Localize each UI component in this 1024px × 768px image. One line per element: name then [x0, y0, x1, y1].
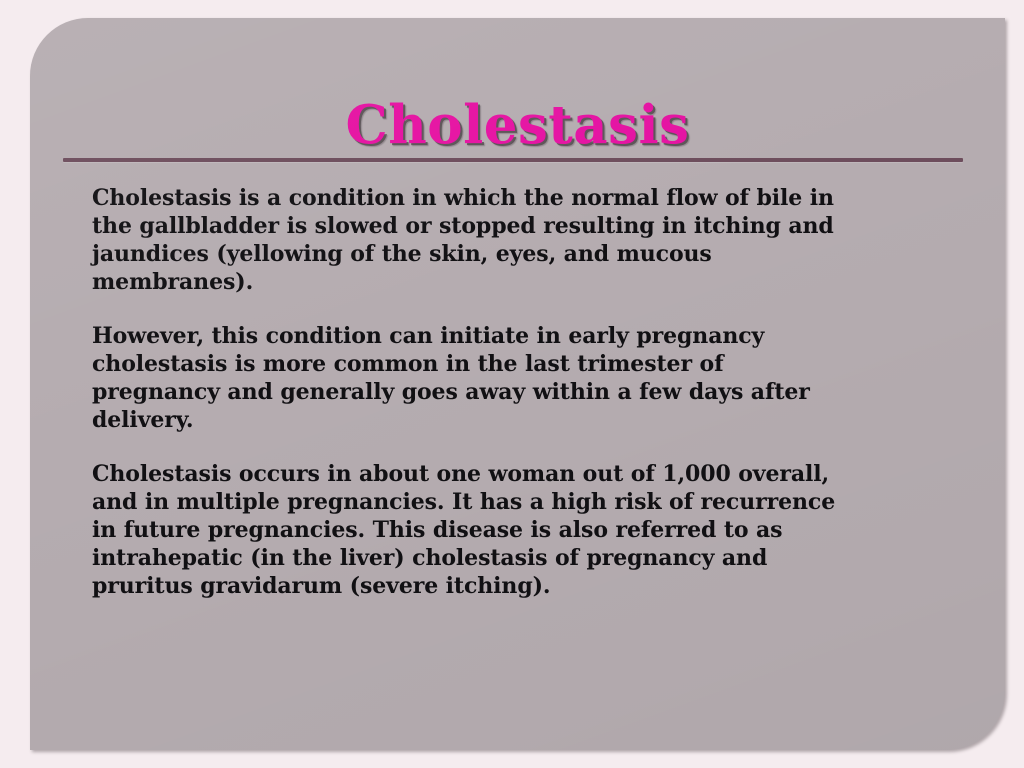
body-paragraph-1: Cholestasis is a condition in which the …	[92, 184, 982, 296]
slide-root: Cholestasis Cholestasis is a condition i…	[0, 0, 1024, 768]
slide-body: Cholestasis is a condition in which the …	[92, 184, 982, 600]
body-paragraph-3: Cholestasis occurs in about one woman ou…	[92, 460, 982, 600]
slide-card: Cholestasis Cholestasis is a condition i…	[30, 18, 1005, 750]
body-paragraph-2: However, this condition can initiate in …	[92, 322, 982, 434]
title-divider	[63, 158, 963, 162]
page-title: Cholestasis	[30, 98, 1005, 154]
